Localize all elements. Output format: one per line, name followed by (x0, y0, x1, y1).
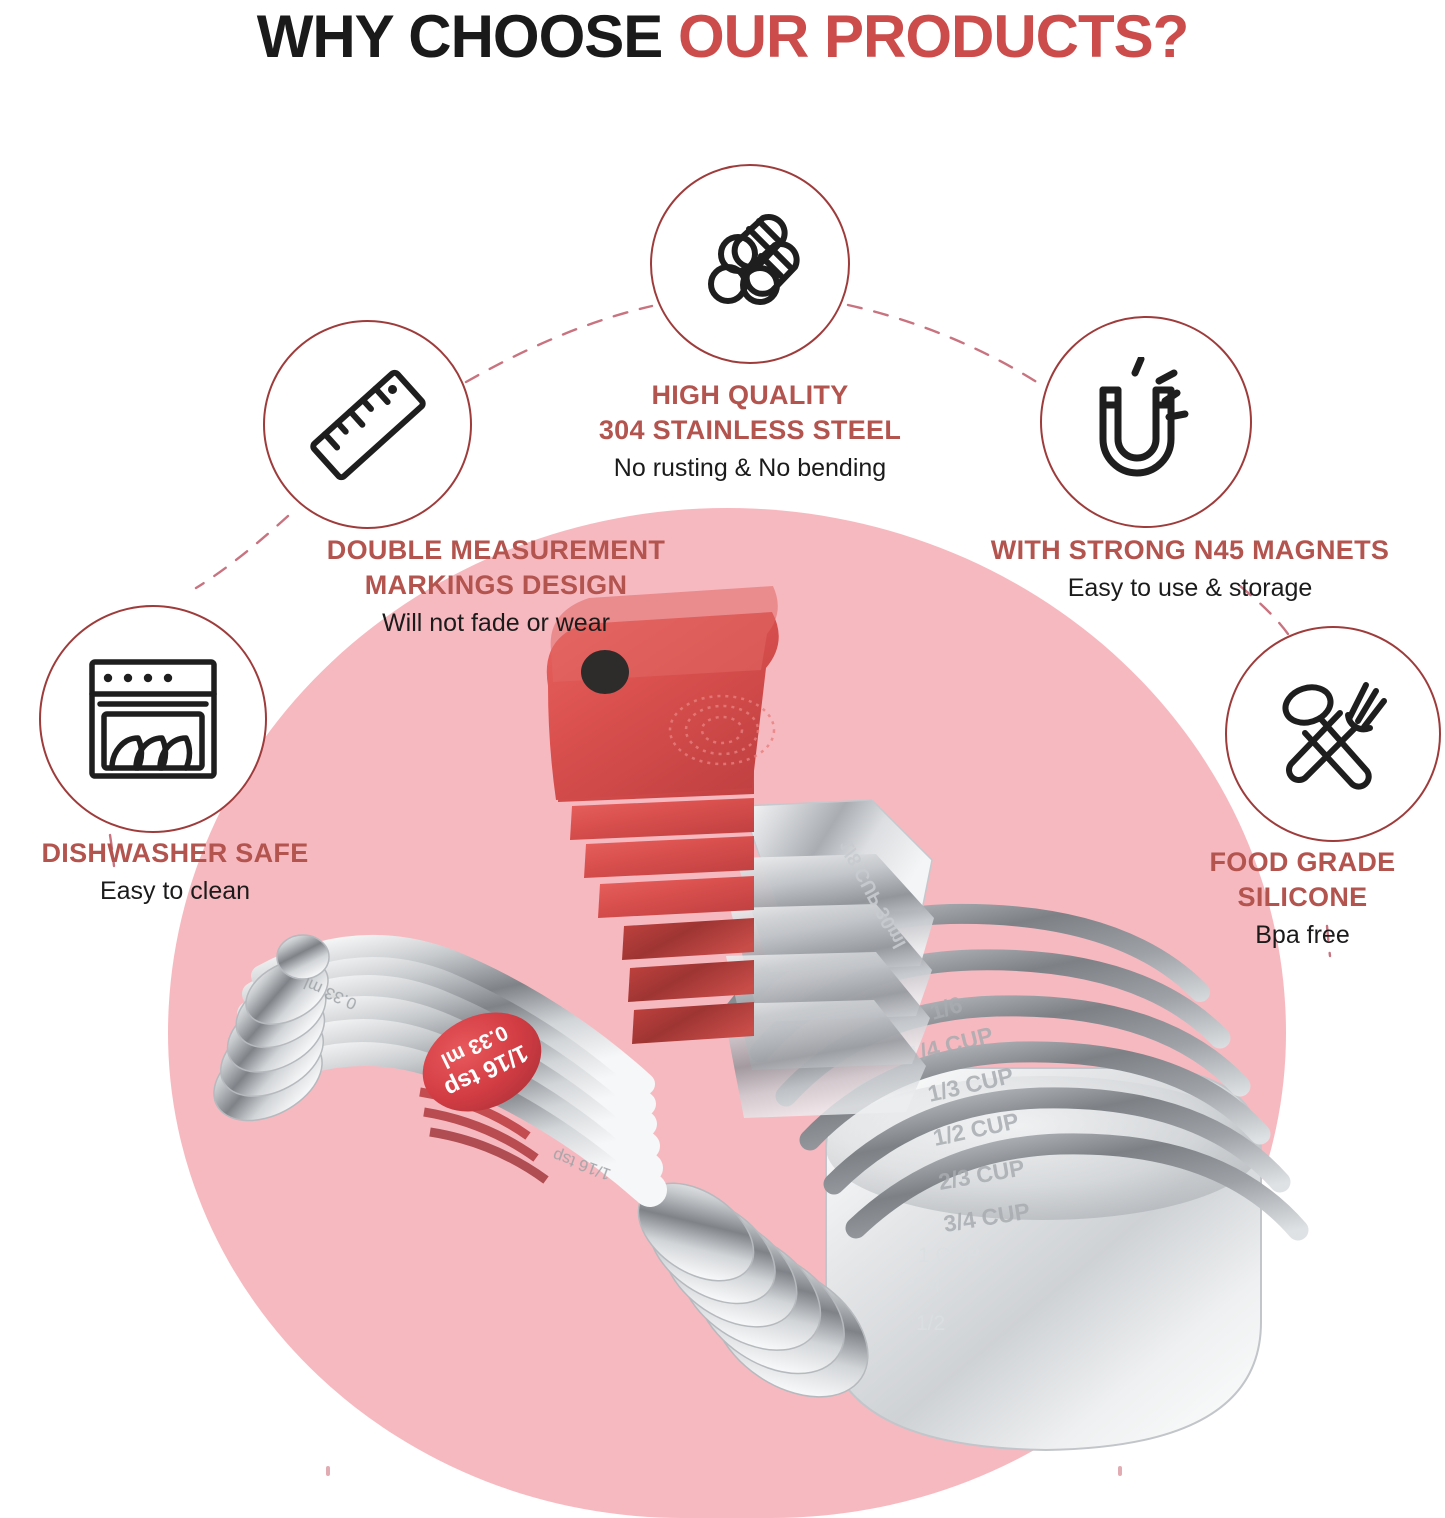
feature-subtext-silicone: Bpa free (1160, 918, 1445, 952)
feature-text-dishwasher-safe: DISHWASHER SAFE Easy to clean (0, 836, 410, 908)
feature-heading-line2-steel: 304 STAINLESS STEEL (445, 413, 1055, 448)
page-title-accent: OUR PRODUCTS? (678, 3, 1188, 70)
feature-circle-strong-magnets[interactable] (1040, 316, 1252, 528)
connector-dot-bottom-left (326, 1466, 330, 1476)
steel-bars-icon (691, 205, 809, 323)
feature-text-double-measurement: DOUBLE MEASUREMENT MARKINGS DESIGN Will … (193, 533, 799, 640)
page-title: WHY CHOOSE OUR PRODUCTS? (0, 2, 1445, 72)
infographic-stage: WHY CHOOSE OUR PRODUCTS? (0, 0, 1445, 1476)
pink-background-blob (168, 508, 1286, 1518)
feature-heading-line1-magnets: WITH STRONG N45 MAGNETS (940, 533, 1440, 568)
dishwasher-icon (86, 656, 220, 782)
feature-heading-line1-steel: HIGH QUALITY (445, 378, 1055, 413)
ruler-icon (304, 361, 432, 489)
spoon-fork-icon (1270, 671, 1396, 797)
connector-ruler-to-steel (466, 306, 652, 382)
connector-steel-to-magnet (848, 305, 1046, 388)
feature-heading-line1-measurement: DOUBLE MEASUREMENT (193, 533, 799, 568)
feature-subtext-steel: No rusting & No bending (445, 451, 1055, 485)
page-title-dark: WHY CHOOSE (257, 3, 678, 70)
connector-dot-bottom-right (1118, 1466, 1122, 1476)
feature-circle-high-quality-steel[interactable] (650, 164, 850, 364)
feature-text-high-quality-steel: HIGH QUALITY 304 STAINLESS STEEL No rust… (445, 378, 1055, 485)
magnet-icon (1081, 357, 1211, 487)
feature-heading-line1-silicone: FOOD GRADE (1160, 845, 1445, 880)
feature-text-food-grade-silicone: FOOD GRADE SILICONE Bpa free (1160, 845, 1445, 952)
feature-circle-food-grade-silicone[interactable] (1225, 626, 1441, 842)
feature-text-strong-magnets: WITH STRONG N45 MAGNETS Easy to use & st… (940, 533, 1440, 605)
feature-circle-double-measurement[interactable] (263, 320, 472, 529)
feature-subtext-dishwasher: Easy to clean (0, 874, 410, 908)
feature-subtext-magnets: Easy to use & storage (940, 571, 1440, 605)
feature-heading-line2-silicone: SILICONE (1160, 880, 1445, 915)
feature-heading-line1-dishwasher: DISHWASHER SAFE (0, 836, 410, 871)
feature-subtext-measurement: Will not fade or wear (193, 606, 799, 640)
feature-heading-line2-measurement: MARKINGS DESIGN (193, 568, 799, 603)
